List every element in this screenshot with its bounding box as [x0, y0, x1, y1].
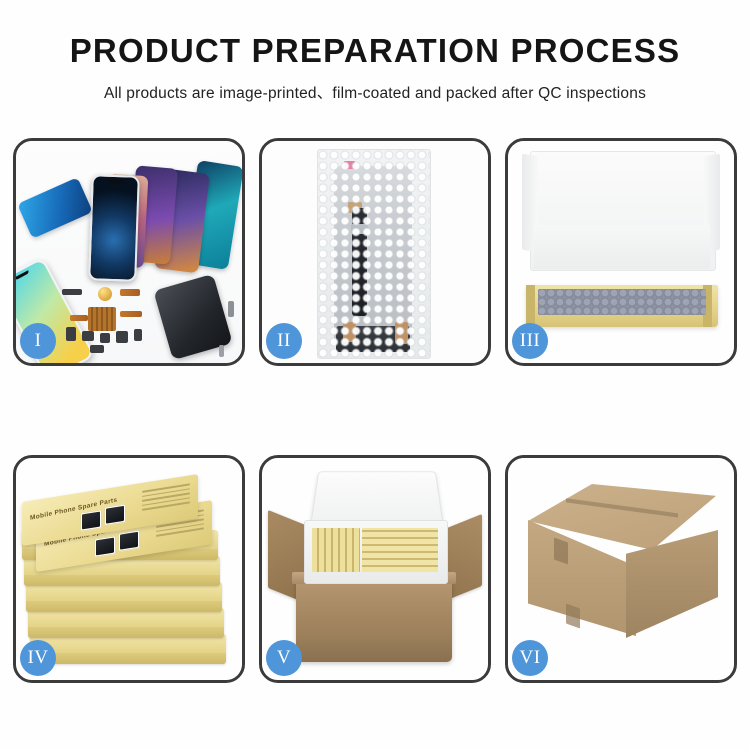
page-subtitle: All products are image-printed、film-coat… — [0, 81, 750, 103]
carton-tape-lower — [566, 603, 580, 628]
product-preparation-infographic: PRODUCT PREPARATION PROCESS All products… — [0, 0, 750, 750]
step-badge-3: III — [512, 323, 548, 359]
carton-tape-upper — [554, 537, 568, 564]
spare-part-flex — [120, 311, 142, 317]
step-badge-6: VI — [512, 640, 548, 676]
phone-notch — [108, 180, 124, 184]
stacked-box — [30, 634, 226, 664]
box-thumbnail — [80, 509, 102, 531]
box-spec-lines — [142, 483, 190, 514]
page-title: PRODUCT PREPARATION PROCESS — [0, 34, 750, 67]
speaker-part-icon — [98, 287, 112, 301]
step-badge-2: II — [266, 323, 302, 359]
yellow-boxes-inside — [312, 528, 438, 572]
adhesive-blue-film — [17, 177, 93, 239]
step-panel-1: I — [13, 138, 245, 366]
screw-part — [228, 301, 234, 317]
box-stack: Mobile Phone Spare Parts Mobile Phone Sp… — [20, 484, 232, 664]
stacked-box — [28, 608, 224, 638]
spare-part — [90, 345, 104, 353]
yellow-box-row — [362, 528, 438, 572]
chip-grid-part — [88, 307, 116, 331]
header: PRODUCT PREPARATION PROCESS All products… — [0, 0, 750, 103]
spare-part — [82, 331, 94, 341]
step-badge-1: I — [20, 323, 56, 359]
step-panel-3: III — [505, 138, 737, 366]
stacked-box — [26, 582, 222, 612]
step-badge-5: V — [266, 640, 302, 676]
phone-front-glass — [88, 174, 140, 282]
step-badge-4: IV — [20, 640, 56, 676]
screw-part — [219, 345, 224, 357]
phone-notch — [16, 270, 30, 280]
step-panel-5: V — [259, 455, 491, 683]
spare-part — [100, 333, 110, 343]
box-thumbnail — [118, 529, 140, 551]
spare-part — [134, 329, 142, 341]
carton-body — [296, 580, 452, 662]
foam-inner-liner — [534, 225, 710, 269]
tray-edge-left — [526, 285, 535, 327]
bubble-wrap-bag — [317, 149, 431, 359]
step-panel-6: VI — [505, 455, 737, 683]
step-panel-2: II — [259, 138, 491, 366]
step-panel-4: Mobile Phone Spare Parts Mobile Phone Sp… — [13, 455, 245, 683]
spare-part-flex — [120, 289, 140, 296]
bubble-texture — [318, 150, 430, 358]
spare-part — [66, 327, 76, 341]
spare-part — [62, 289, 82, 295]
box-thumbnail — [94, 535, 116, 557]
steps-grid: I II — [13, 138, 737, 683]
spare-part — [116, 331, 128, 343]
box-thumbnail — [104, 503, 126, 525]
spare-part-flex — [70, 315, 88, 321]
bubble-wrap-filler — [538, 289, 706, 315]
yellow-box-row — [312, 528, 360, 572]
